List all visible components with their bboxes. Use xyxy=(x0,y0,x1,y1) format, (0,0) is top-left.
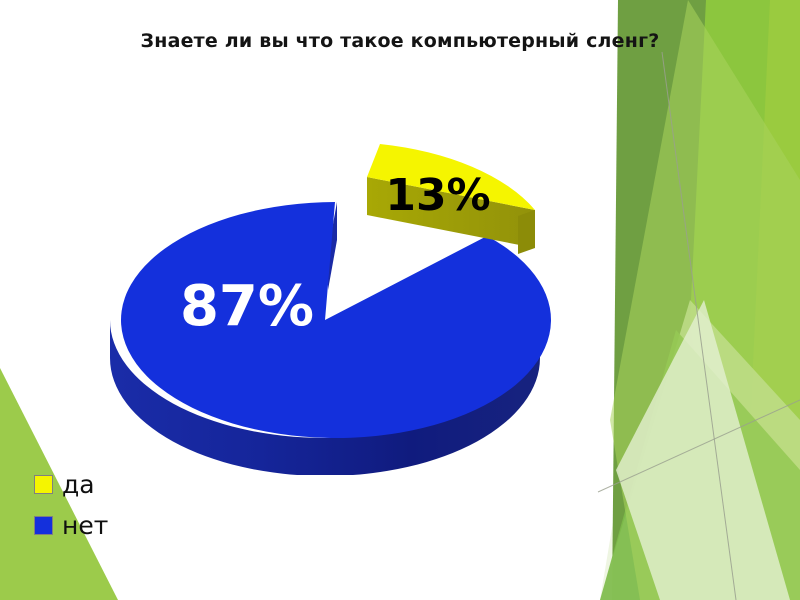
legend-item-da[interactable]: да xyxy=(34,472,108,497)
pie-label-yellow: 13% xyxy=(385,170,490,221)
pale-shard-lower xyxy=(616,300,790,600)
pie-label-blue: 87% xyxy=(180,274,314,339)
hairline-diagonal-a xyxy=(662,52,736,600)
pie-chart: 13% 87% xyxy=(80,130,580,475)
pie-slice-blue-3d xyxy=(110,202,551,475)
slide-canvas: Знаете ли вы что такое компьютерный слен… xyxy=(0,0,800,600)
chart-title: Знаете ли вы что такое компьютерный слен… xyxy=(0,30,800,52)
hairline-diagonal-b xyxy=(598,400,800,492)
pale-overlay-lower xyxy=(600,300,800,600)
light-green-shard xyxy=(610,0,800,600)
legend-swatch-yellow xyxy=(34,475,53,494)
legend-label-net: нет xyxy=(62,513,108,538)
pie-chart-svg: 13% 87% xyxy=(80,130,580,475)
bright-green-column xyxy=(690,0,800,600)
dark-green-column xyxy=(612,0,760,600)
legend-swatch-blue xyxy=(34,516,53,535)
right-light-green-band xyxy=(742,0,800,600)
chart-legend: да нет xyxy=(34,472,108,538)
yellow-slice-side-right xyxy=(518,210,535,254)
legend-item-net[interactable]: нет xyxy=(34,513,108,538)
legend-label-da: да xyxy=(62,472,95,497)
pale-green-sweep xyxy=(600,0,800,600)
mid-green-lower-diagonal xyxy=(600,330,800,600)
